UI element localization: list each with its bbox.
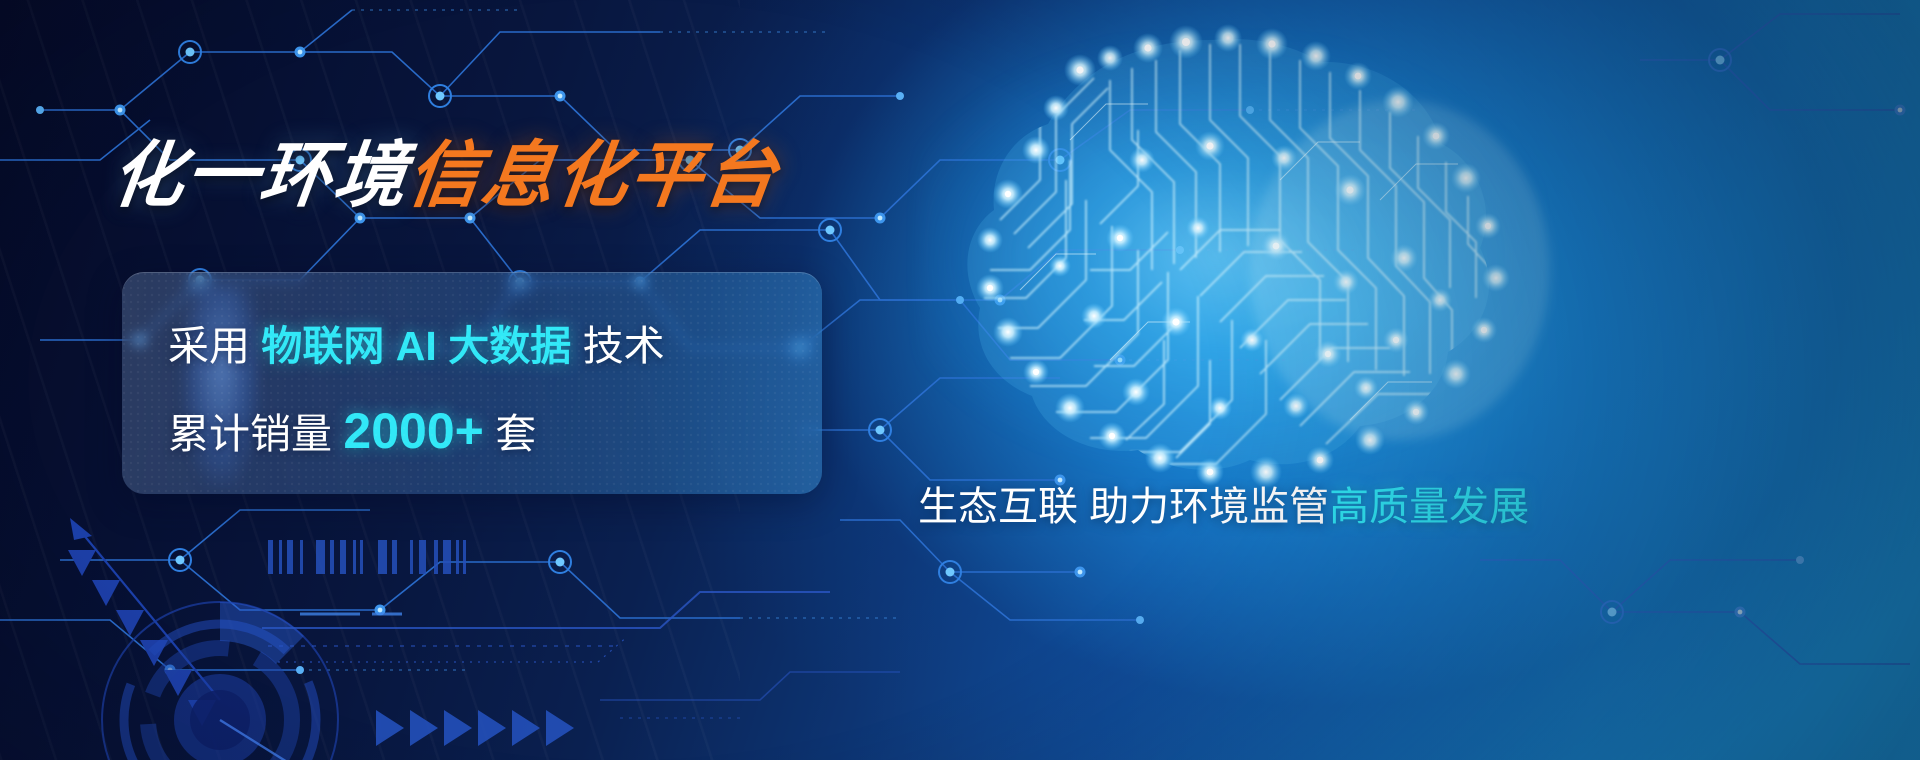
hero-banner: 化一环境信息化平台 采用 物联网 AI 大数据 技术 累计销量 2000+ 套 … [0, 0, 1920, 760]
background-vignette [0, 0, 1920, 760]
